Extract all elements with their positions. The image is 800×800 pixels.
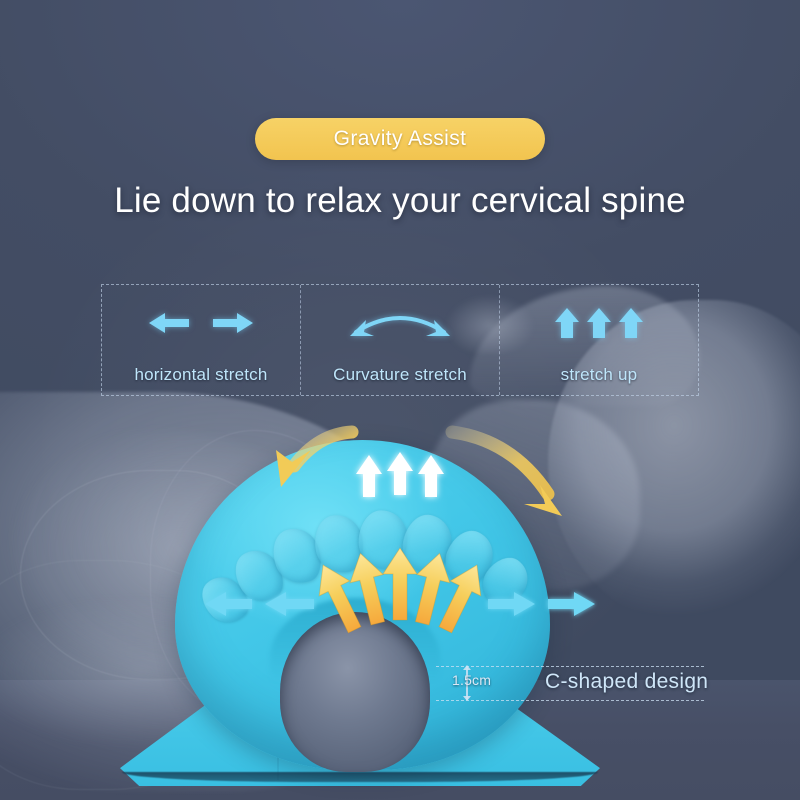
pillow-neck-cavity [280, 612, 430, 772]
gravity-assist-badge: Gravity Assist [255, 118, 545, 160]
thickness-guide-line-top [436, 666, 704, 667]
feature-label: stretch up [561, 365, 638, 385]
c-shape-design-label: C-shaped design [545, 670, 708, 694]
feature-item-stretch-up: stretch up [499, 285, 698, 395]
cervical-pillow-product [120, 420, 620, 800]
vertebra-segment [359, 510, 408, 569]
feature-strip: horizontal stretch Curvature stretch [101, 284, 699, 396]
left-right-arrows-icon [102, 303, 300, 343]
badge-label: Gravity Assist [334, 127, 467, 151]
triple-up-arrows-icon [500, 303, 698, 343]
curved-double-arrow-icon [301, 303, 499, 343]
feature-item-horizontal-stretch: horizontal stretch [102, 285, 300, 395]
feature-item-curvature-stretch: Curvature stretch [300, 285, 499, 395]
page-title: Lie down to relax your cervical spine [0, 181, 800, 221]
thickness-guide-line-bottom [436, 700, 704, 701]
product-marketing-image: Gravity Assist Lie down to relax your ce… [0, 0, 800, 800]
thickness-label: 1.5cm [452, 672, 491, 688]
feature-label: Curvature stretch [333, 365, 467, 385]
feature-label: horizontal stretch [134, 365, 267, 385]
